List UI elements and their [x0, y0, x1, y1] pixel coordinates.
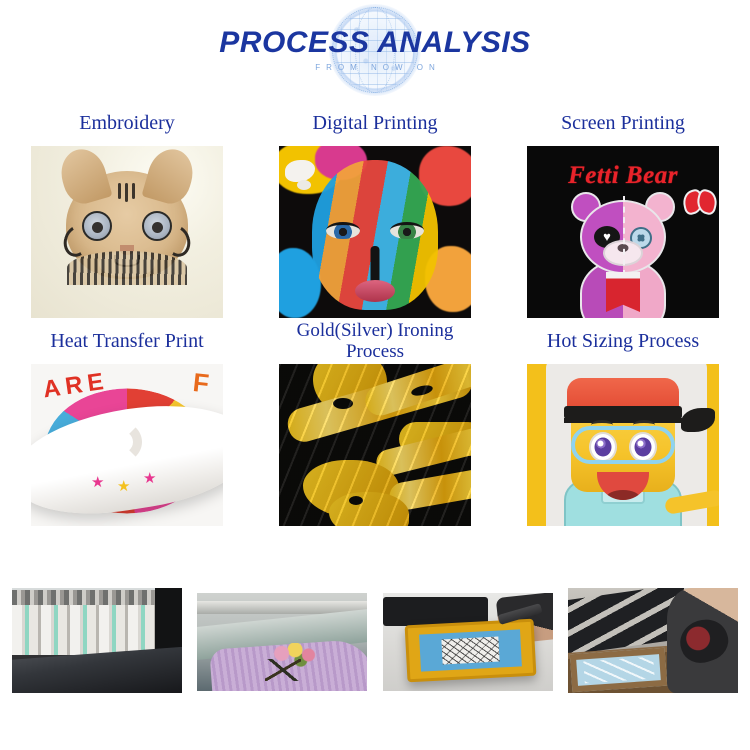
process-label-digital-printing: Digital Printing — [311, 100, 440, 146]
page-subtitle: FROM NOW ON — [219, 63, 530, 72]
screen-mesh — [420, 630, 523, 672]
gold-cutout — [333, 398, 353, 409]
face-eye-right — [390, 222, 424, 239]
star-icon: ★ — [91, 476, 104, 491]
process-image-embroidery — [31, 146, 223, 318]
bear-bow-icon — [683, 190, 717, 212]
face-core — [312, 160, 438, 310]
embroidery-machine-line-photo — [12, 588, 182, 693]
process-image-screen-printing: Fetti Bear — [527, 146, 719, 318]
process-cell-heat-transfer-print: Heat Transfer Print ARE F ★ ★ ★ ★ ★ — [24, 318, 230, 526]
factory-photo-embroidery-machines — [12, 588, 182, 693]
gold-cutout — [349, 496, 363, 505]
star-icon: ★ — [143, 472, 156, 487]
cat-ear-right — [141, 146, 198, 208]
factory-photo-digital-printer — [197, 593, 367, 691]
hot-sizing-artwork — [527, 364, 719, 526]
star-icon: ★ — [117, 480, 130, 495]
process-cell-digital-printing: Digital Printing — [272, 100, 478, 318]
character-goggles — [571, 426, 675, 464]
process-label-gold-ironing: Gold(Silver) Ironing Process — [272, 318, 478, 364]
heat-artwork-text-2: F — [192, 367, 215, 400]
screen-printing-production-line-photo — [568, 588, 738, 693]
digital-printing-machine-photo — [197, 593, 367, 691]
process-cell-embroidery: Embroidery — [24, 100, 230, 318]
cat-chest-fur — [67, 251, 187, 285]
gold-foil-artwork — [279, 364, 471, 526]
process-label-embroidery: Embroidery — [77, 100, 177, 146]
cat-stripe — [132, 183, 135, 199]
bear-artwork-text: Fetti Bear — [527, 162, 719, 190]
embroidered-cat-artwork — [31, 146, 223, 318]
cat-head — [66, 171, 188, 279]
factory-photo-screen-frame — [383, 593, 553, 691]
print-screen-frame — [570, 648, 668, 692]
heat-transfer-artwork: ARE F ★ ★ ★ ★ ★ — [31, 364, 223, 526]
fetti-bear-artwork: Fetti Bear — [527, 146, 719, 318]
process-image-heat-transfer-print: ARE F ★ ★ ★ ★ ★ — [31, 364, 223, 526]
process-cell-screen-printing: Screen Printing Fetti Bear — [520, 100, 726, 318]
process-image-gold-ironing — [279, 364, 471, 526]
screen-artwork — [442, 637, 500, 665]
cat-ear-left — [55, 146, 112, 208]
process-image-digital-printing — [279, 146, 471, 318]
cat-stripe — [125, 183, 128, 202]
page-header: PROCESS ANALYSIS FROM NOW ON — [0, 0, 750, 100]
face-eye-left — [326, 222, 360, 239]
title-block: PROCESS ANALYSIS FROM NOW ON — [219, 28, 530, 72]
headband-tail — [681, 408, 715, 432]
process-cell-hot-sizing: Hot Sizing Process — [520, 318, 726, 526]
pop-art-face-artwork — [279, 146, 471, 318]
process-analysis-page: PROCESS ANALYSIS FROM NOW ON Embroidery — [0, 0, 750, 750]
spiral-shape — [96, 421, 142, 463]
face-lips — [355, 280, 395, 302]
bear-dashed-divider — [623, 196, 625, 276]
page-title: PROCESS ANALYSIS — [219, 28, 530, 58]
factory-photo-strip — [0, 588, 750, 693]
process-label-screen-printing: Screen Printing — [559, 100, 687, 146]
process-grid-row-1: Embroidery — [0, 100, 750, 318]
character-tongue — [606, 490, 640, 500]
process-label-heat-transfer-print: Heat Transfer Print — [48, 318, 205, 364]
process-cell-gold-ironing: Gold(Silver) Ironing Process — [272, 318, 478, 526]
cat-stripe — [118, 183, 121, 199]
process-label-hot-sizing: Hot Sizing Process — [545, 318, 701, 364]
gold-shape — [329, 492, 409, 526]
character-headband-stripe — [564, 418, 682, 423]
paint-splatter — [297, 180, 311, 190]
printed-leaf-motif — [265, 659, 301, 681]
process-image-hot-sizing — [527, 364, 719, 526]
print-screen-frame — [405, 619, 537, 683]
screen-printing-frame-photo — [383, 593, 553, 691]
process-grid-row-2: Heat Transfer Print ARE F ★ ★ ★ ★ ★ Gold… — [0, 318, 750, 526]
factory-photo-printing-line — [568, 588, 738, 693]
background-shadow — [155, 588, 182, 655]
